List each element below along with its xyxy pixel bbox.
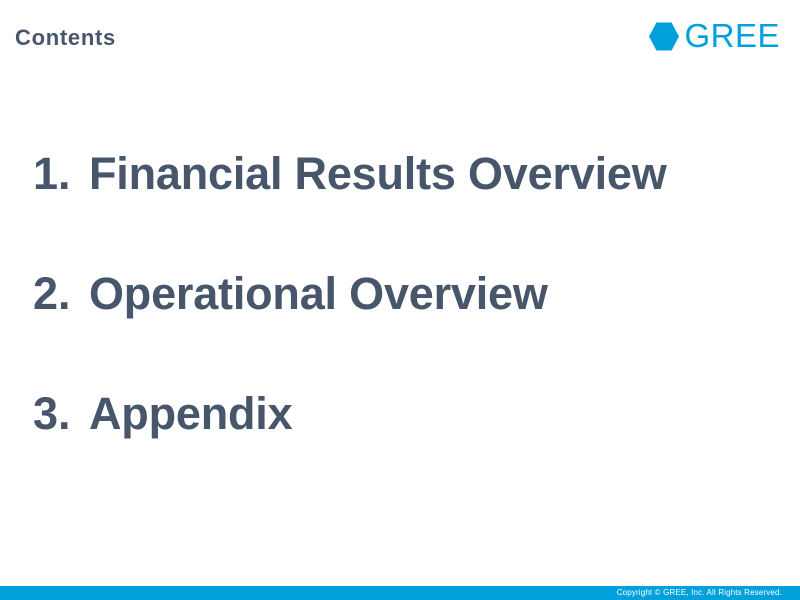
gree-logo-text: GREE: [684, 19, 780, 52]
agenda-item-number: 3.: [33, 388, 89, 440]
agenda-item-3[interactable]: 3. Appendix: [33, 388, 773, 508]
agenda-item-2[interactable]: 2. Operational Overview: [33, 268, 773, 388]
agenda-item-label: Appendix: [89, 388, 292, 440]
gree-hexagon-icon: [649, 21, 679, 52]
page-title: Contents: [15, 27, 116, 49]
slide-footer: Copyright © GREE, Inc. All Rights Reserv…: [0, 586, 800, 600]
copyright-text: Copyright © GREE, Inc. All Rights Reserv…: [617, 589, 800, 597]
slide-contents: Contents GREE 1. Financial Results Overv…: [0, 0, 800, 600]
agenda-item-number: 2.: [33, 268, 89, 320]
agenda-list: 1. Financial Results Overview 2. Operati…: [33, 148, 773, 508]
gree-logo: GREE: [649, 18, 780, 54]
agenda-item-label: Operational Overview: [89, 268, 548, 320]
agenda-item-1[interactable]: 1. Financial Results Overview: [33, 148, 773, 268]
slide-header: Contents GREE: [0, 0, 800, 72]
agenda-item-label: Financial Results Overview: [89, 148, 667, 200]
agenda-item-number: 1.: [33, 148, 89, 200]
